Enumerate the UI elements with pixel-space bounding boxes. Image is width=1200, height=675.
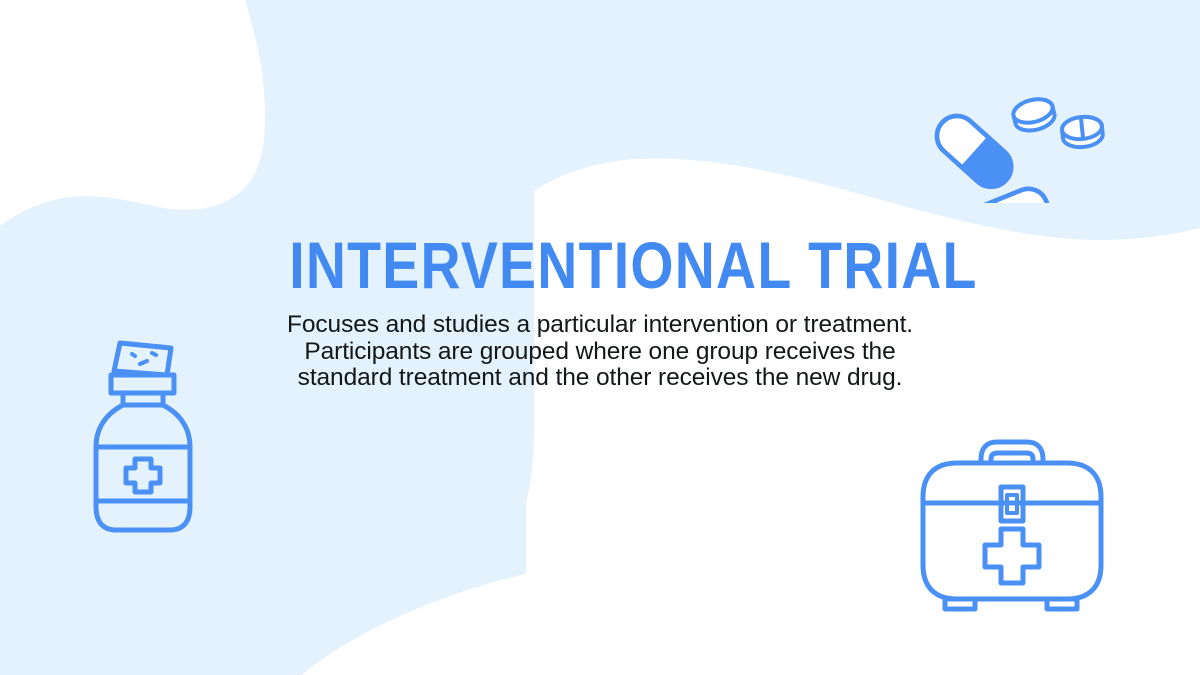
- medical-cross-icon: [126, 459, 160, 492]
- kit-foot-icon: [1047, 599, 1077, 609]
- kit-foot-icon: [945, 599, 975, 609]
- bottle-body-icon: [96, 405, 190, 530]
- page-title: INTERVENTIONAL TRIAL: [289, 232, 911, 298]
- tablet-icon: [1011, 95, 1057, 134]
- first-aid-kit-illustration: [905, 425, 1115, 615]
- text-content-block: INTERVENTIONAL TRIAL Focuses and studies…: [230, 232, 970, 392]
- slide-description: Focuses and studies a particular interve…: [230, 312, 970, 392]
- kit-handle-icon: [981, 442, 1043, 463]
- pills-illustration: [905, 78, 1120, 203]
- white-blob-top-left: [0, 0, 265, 226]
- slide-canvas: INTERVENTIONAL TRIAL Focuses and studies…: [0, 0, 1200, 675]
- bottle-collar-icon: [111, 375, 174, 393]
- medicine-bottle-illustration: [78, 335, 208, 540]
- tablet-scored-icon: [1061, 115, 1104, 149]
- medical-cross-icon: [985, 529, 1039, 583]
- capsule-icon: [929, 108, 1020, 195]
- bottle-open-lid-icon: [114, 343, 171, 375]
